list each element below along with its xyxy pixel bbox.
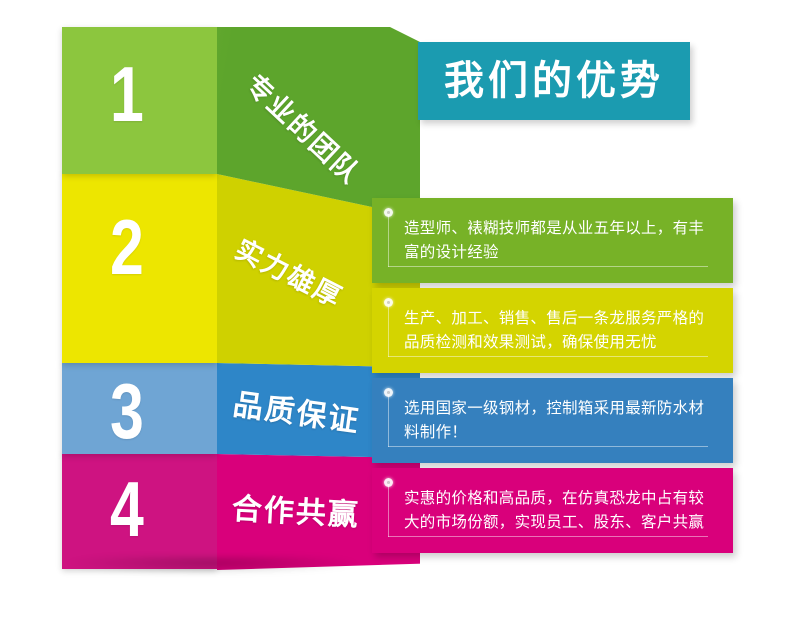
bullet-dot-icon [384, 298, 393, 307]
step-1-number: 1 [110, 55, 144, 133]
panel-3-bracket-foot [388, 446, 708, 447]
detail-panel-2-text: 生产、加工、销售、售后一条龙服务严格的品质检测和效果测试，确保使用无忧 [404, 306, 711, 354]
bullet-dot-icon [384, 478, 393, 487]
panel-2-bracket-foot [388, 356, 708, 357]
detail-panel-2: 生产、加工、销售、售后一条龙服务严格的品质检测和效果测试，确保使用无忧 [372, 288, 733, 373]
detail-panel-1-text: 造型师、裱糊技师都是从业五年以上，有丰富的设计经验 [404, 216, 711, 264]
panel-2-bracket [388, 302, 389, 357]
detail-panel-4: 实惠的价格和高品质，在仿真恐龙中占有较大的市场份额，实现员工、股东、客户共赢 [372, 468, 733, 553]
infographic-canvas: 4 合作共赢 3 品质保证 2 实力雄厚 1 专业的团队 我们的优势 造型师、裱… [0, 0, 800, 622]
detail-panel-4-text: 实惠的价格和高品质，在仿真恐龙中占有较大的市场份额，实现员工、股东、客户共赢 [404, 486, 711, 534]
panel-4-bracket [388, 482, 389, 537]
bullet-dot-icon [384, 208, 393, 217]
detail-panel-3: 选用国家一级钢材，控制箱采用最新防水材料制作！ [372, 378, 733, 463]
bullet-dot-icon [384, 388, 393, 397]
panel-1-bracket-foot [388, 266, 708, 267]
panel-4-bracket-foot [388, 536, 708, 537]
page-title: 我们的优势 [444, 61, 664, 101]
panel-1-bracket [388, 212, 389, 267]
panel-3-bracket [388, 392, 389, 447]
detail-panel-3-text: 选用国家一级钢材，控制箱采用最新防水材料制作！ [404, 396, 711, 444]
title-banner: 我们的优势 [418, 42, 690, 120]
stack-drop-shadow [62, 556, 362, 574]
detail-panel-1: 造型师、裱糊技师都是从业五年以上，有丰富的设计经验 [372, 198, 733, 283]
